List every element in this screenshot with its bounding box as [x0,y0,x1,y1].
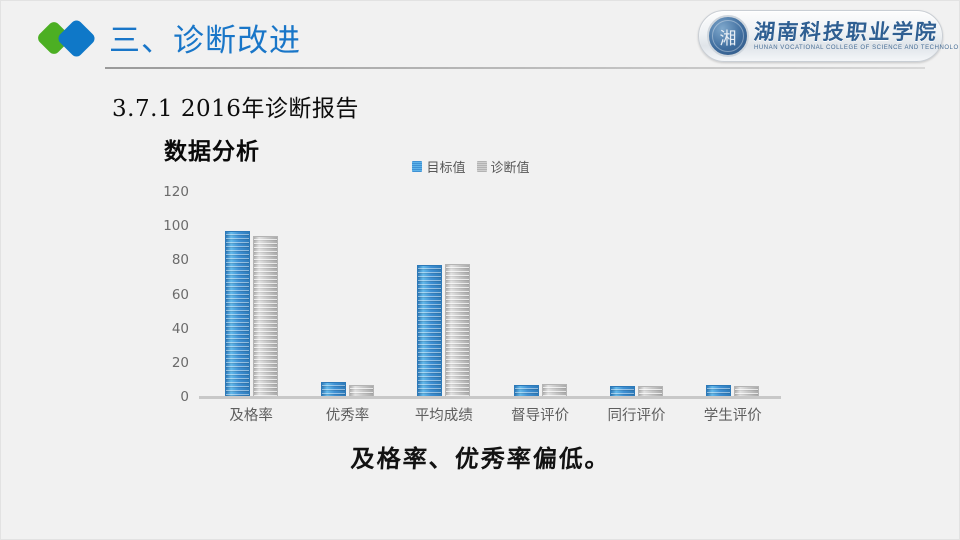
legend-swatch-diagnosis-icon [477,161,487,172]
y-axis-tick: 100 [129,218,189,234]
chart-plot-area [203,192,781,397]
slide-canvas: 三、诊断改进 湘 湖南科技职业学院 HUNAN VOCATIONAL COLLE… [0,0,960,540]
diamond-logo-icon [37,20,99,66]
x-axis-label: 优秀率 [299,404,395,425]
y-axis-tick: 60 [129,287,189,303]
x-axis-label: 及格率 [203,404,299,425]
college-logo-text: 湖南科技职业学院 HUNAN VOCATIONAL COLLEGE OF SCI… [754,21,960,51]
bar-group [492,192,588,397]
legend-label-diagnosis: 诊断值 [491,157,530,176]
page-title: 三、诊断改进 [109,15,301,60]
header-divider [105,67,925,69]
chart-x-axis-labels: 及格率优秀率平均成绩督导评价同行评价学生评价 [203,404,781,425]
bar-group [685,192,781,397]
bar-diagnosis[interactable] [253,236,278,397]
y-axis-tick: 80 [129,252,189,268]
college-logo: 湘 湖南科技职业学院 HUNAN VOCATIONAL COLLEGE OF S… [698,10,943,62]
bar-target[interactable] [225,231,250,397]
bar-chart: 目标值 诊断值 120100806040200 及格率优秀率平均成绩督导评价同行… [161,156,781,431]
bar-group [299,192,395,397]
bar-group [203,192,299,397]
seal-char: 湘 [720,24,737,49]
subtitle: 3.7.1 2016年诊断报告 [112,89,359,123]
college-name-cn: 湖南科技职业学院 [753,21,960,42]
y-axis-tick: 120 [129,184,189,200]
bar-group [396,192,492,397]
x-axis-label: 督导评价 [492,404,588,425]
bar-target[interactable] [321,382,346,397]
bar-diagnosis[interactable] [445,264,470,397]
bar-group [588,192,684,397]
college-name-en: HUNAN VOCATIONAL COLLEGE OF SCIENCE AND … [754,45,960,51]
legend-item-diagnosis: 诊断值 [477,157,530,176]
college-seal-icon: 湘 [707,15,749,57]
chart-caption: 及格率、优秀率偏低。 [0,439,960,474]
legend-swatch-target-icon [412,161,422,172]
x-axis-label: 同行评价 [588,404,684,425]
chart-baseline-axis [199,396,781,399]
y-axis-tick: 0 [129,389,189,405]
chart-legend: 目标值 诊断值 [161,156,781,176]
slide-header: 三、诊断改进 湘 湖南科技职业学院 HUNAN VOCATIONAL COLLE… [1,1,960,79]
y-axis-tick: 20 [129,355,189,371]
chart-plot-wrapper: 120100806040200 [161,192,781,397]
y-axis-tick: 40 [129,321,189,337]
legend-label-target: 目标值 [426,157,465,176]
bar-target[interactable] [417,265,442,397]
x-axis-label: 平均成绩 [396,404,492,425]
legend-item-target: 目标值 [412,157,465,176]
x-axis-label: 学生评价 [685,404,781,425]
